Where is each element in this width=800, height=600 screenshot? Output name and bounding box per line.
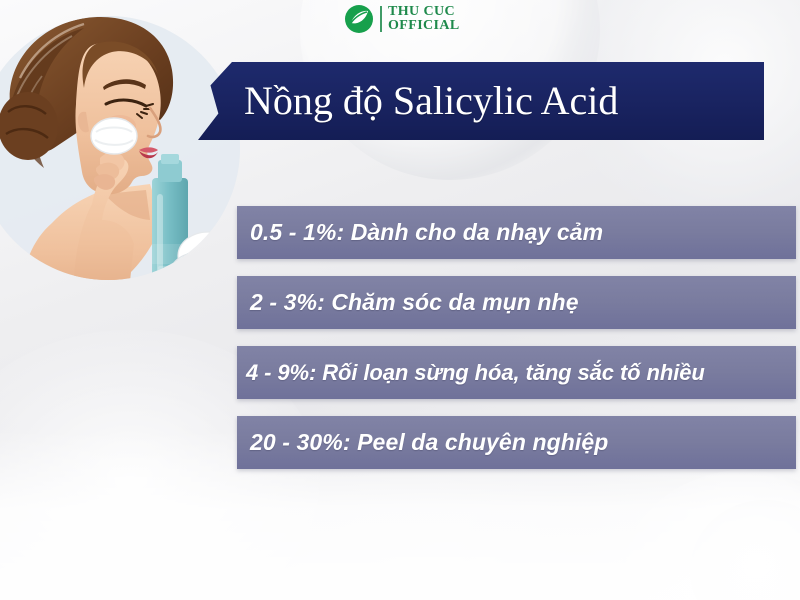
concentration-row: 20 - 30%: Peel da chuyên nghiệp bbox=[237, 416, 796, 469]
logo-text: THU CUC OFFICIAL bbox=[388, 5, 460, 34]
logo-line-2: OFFICIAL bbox=[388, 19, 460, 33]
concentration-label: 2 - 3%: Chăm sóc da mụn nhẹ bbox=[237, 291, 579, 314]
brand-logo: THU CUC OFFICIAL bbox=[344, 4, 460, 34]
infographic-canvas: THU CUC OFFICIAL Nồng độ Salicylic Acid … bbox=[0, 0, 800, 600]
concentration-row: 4 - 9%: Rối loạn sừng hóa, tăng sắc tố n… bbox=[237, 346, 796, 399]
leaf-circle-icon bbox=[344, 4, 374, 34]
logo-divider bbox=[380, 6, 382, 32]
concentration-label: 4 - 9%: Rối loạn sừng hóa, tăng sắc tố n… bbox=[237, 362, 705, 384]
concentration-list: 0.5 - 1%: Dành cho da nhạy cảm 2 - 3%: C… bbox=[237, 206, 796, 469]
concentration-row: 2 - 3%: Chăm sóc da mụn nhẹ bbox=[237, 276, 796, 329]
concentration-label: 20 - 30%: Peel da chuyên nghiệp bbox=[237, 431, 608, 454]
skincare-illustration bbox=[0, 8, 245, 293]
logo-line-1: THU CUC bbox=[388, 5, 460, 19]
concentration-row: 0.5 - 1%: Dành cho da nhạy cảm bbox=[237, 206, 796, 259]
concentration-label: 0.5 - 1%: Dành cho da nhạy cảm bbox=[237, 221, 603, 244]
woman-applying-toner-icon bbox=[0, 8, 245, 293]
title-banner: Nồng độ Salicylic Acid bbox=[198, 62, 764, 140]
page-title: Nồng độ Salicylic Acid bbox=[244, 81, 618, 121]
